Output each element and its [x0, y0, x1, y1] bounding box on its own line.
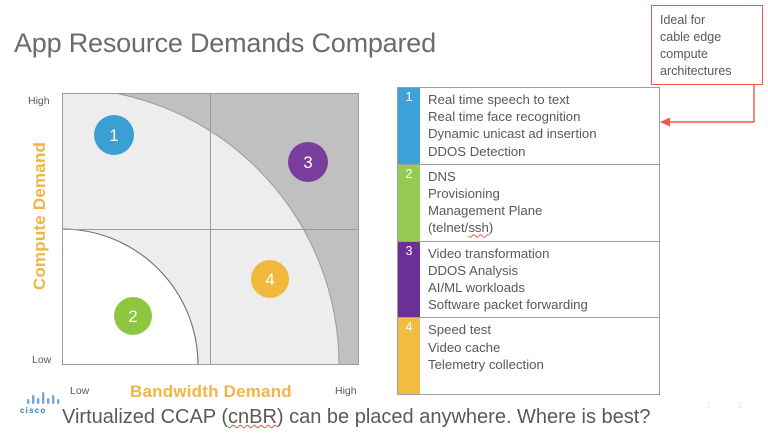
legend-swatch-2: 2 — [398, 165, 420, 241]
legend-item: Dynamic unicast ad insertion — [428, 125, 655, 142]
footer-caption: Virtualized CCAP (cnBR) can be placed an… — [62, 406, 650, 429]
legend-swatch-3: 3 — [398, 242, 420, 318]
legend-item — [428, 373, 655, 390]
spellcheck-underline-cnbr: cnBR — [228, 406, 277, 428]
legend-table: 1 Real time speech to text Real time fac… — [397, 87, 660, 395]
legend-item: DNS — [428, 168, 655, 185]
x-axis-tick-high: High — [335, 385, 357, 397]
legend-swatch-4: 4 — [398, 318, 420, 394]
page-meta: 1 2 — [706, 400, 755, 410]
legend-items-3: Video transformation DDOS Analysis AI/ML… — [420, 242, 659, 318]
legend-item: Provisioning — [428, 185, 655, 202]
bubble-2[interactable]: 2 — [114, 297, 152, 335]
bubble-3[interactable]: 3 — [288, 142, 328, 182]
bubble-4[interactable]: 4 — [251, 260, 289, 298]
legend-number-4: 4 — [406, 321, 413, 394]
bubble-2-label: 2 — [128, 307, 137, 326]
cisco-wordmark: cisco — [20, 406, 46, 415]
legend-row-1[interactable]: 1 Real time speech to text Real time fac… — [398, 88, 659, 165]
legend-swatch-1: 1 — [398, 88, 420, 164]
footer-caption-pre: Virtualized CCAP ( — [62, 406, 228, 428]
legend-item: DDOS Analysis — [428, 262, 655, 279]
callout-box: Ideal for cable edge compute architectur… — [651, 5, 763, 85]
bubble-3-label: 3 — [303, 153, 312, 172]
callout-line: cable edge — [660, 29, 762, 46]
legend-item: Real time face recognition — [428, 108, 655, 125]
slide-canvas: App Resource Demands Compared — [0, 0, 768, 437]
legend-number-1: 1 — [406, 91, 413, 164]
legend-item-telnet-ssh: (telnet/ssh) — [428, 219, 655, 236]
legend-row-2[interactable]: 2 DNS Provisioning Management Plane (tel… — [398, 165, 659, 242]
bubble-4-label: 4 — [265, 270, 274, 289]
chart-svg: 1 2 3 4 — [62, 93, 359, 365]
y-axis-title: Compute Demand — [30, 136, 50, 296]
y-axis-tick-low: Low — [32, 354, 51, 366]
callout-line: Ideal for — [660, 12, 762, 29]
legend-number-2: 2 — [406, 168, 413, 241]
callout-line: architectures — [660, 63, 762, 80]
legend-items-1: Real time speech to text Real time face … — [420, 88, 659, 164]
legend-item: Speed test — [428, 321, 655, 338]
legend-item: Video transformation — [428, 245, 655, 262]
spellcheck-underline-ssh: ssh — [468, 220, 489, 235]
legend-row-3[interactable]: 3 Video transformation DDOS Analysis AI/… — [398, 242, 659, 319]
y-axis-tick-high: High — [28, 95, 50, 107]
x-axis-title: Bandwidth Demand — [130, 382, 292, 402]
legend-item: Software packet forwarding — [428, 296, 655, 313]
page-title: App Resource Demands Compared — [14, 28, 436, 59]
callout-line: compute — [660, 46, 762, 63]
footer-caption-post: ) can be placed anywhere. Where is best? — [277, 406, 651, 428]
connector-line — [668, 84, 754, 122]
legend-number-3: 3 — [406, 245, 413, 318]
arrowhead-icon — [660, 118, 670, 127]
legend-item: AI/ML workloads — [428, 279, 655, 296]
bubble-1-label: 1 — [109, 126, 118, 145]
legend-item: Management Plane — [428, 202, 655, 219]
legend-item: Video cache — [428, 339, 655, 356]
legend-items-2: DNS Provisioning Management Plane (telne… — [420, 165, 659, 241]
bubble-1[interactable]: 1 — [94, 115, 134, 155]
legend-item: Real time speech to text — [428, 91, 655, 108]
legend-item: Telemetry collection — [428, 356, 655, 373]
legend-items-4: Speed test Video cache Telemetry collect… — [420, 318, 659, 394]
bubble-quadrant-chart: 1 2 3 4 — [62, 93, 359, 365]
legend-item: DDOS Detection — [428, 143, 655, 160]
legend-row-4[interactable]: 4 Speed test Video cache Telemetry colle… — [398, 318, 659, 394]
